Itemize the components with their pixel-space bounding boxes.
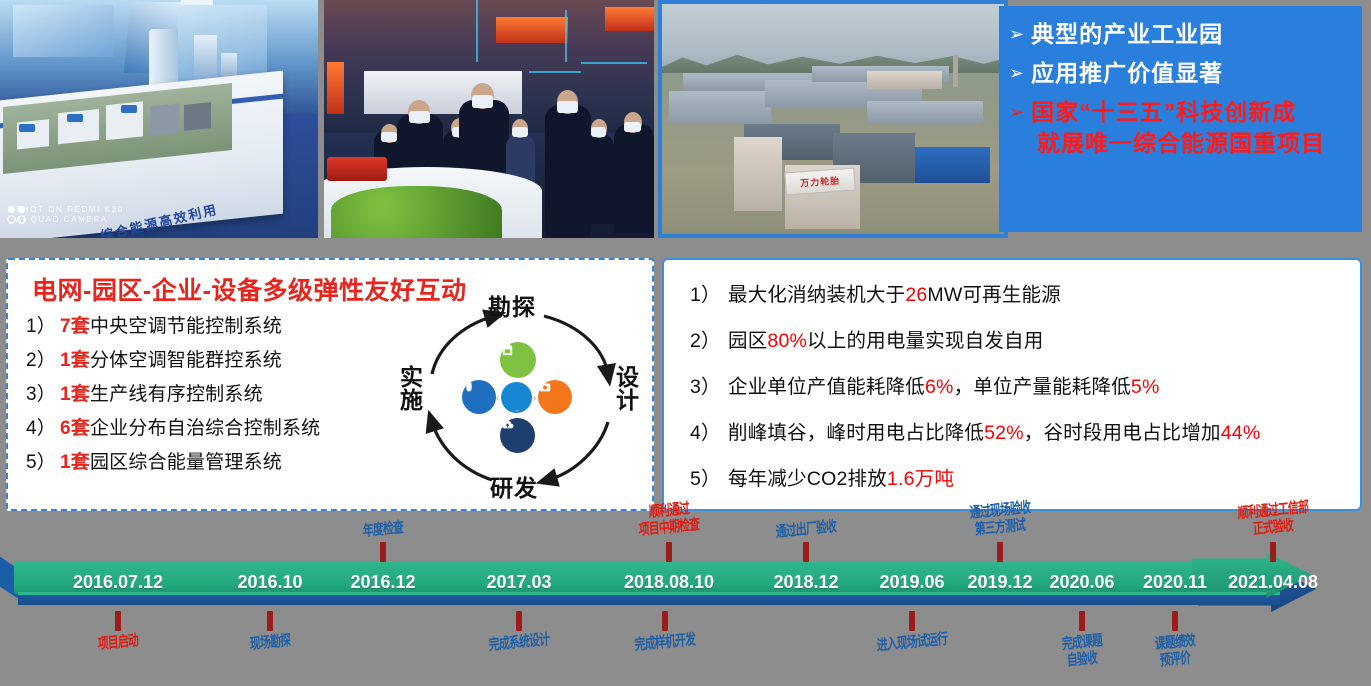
timeline-tick — [909, 611, 915, 631]
exhibition-model-photo: 综合能源高效利用 SHOT ON REDMI K30 AI QUAD CAMER… — [0, 0, 318, 238]
timeline-tick — [662, 611, 668, 631]
timeline-date: 2016.10 — [237, 572, 302, 593]
timeline-tick — [380, 542, 386, 562]
callout-item: ➢ 典型的产业工业园 — [1009, 20, 1354, 48]
timeline-date: 2020.06 — [1049, 572, 1114, 593]
design-node-icon — [538, 380, 572, 414]
face-mask — [557, 101, 577, 113]
deployment-summary-panel: 电网-园区-企业-设备多级弹性友好互动 1）7套中央空调节能控制系统 2）1套分… — [6, 258, 654, 511]
led-screen — [496, 17, 569, 43]
rnd-node-icon — [500, 418, 535, 453]
timeline-tick — [1079, 611, 1085, 631]
callout-item: ➢ 应用推广价值显著 — [1009, 59, 1354, 87]
benefits-summary-panel: 1）最大化消纳装机大于26MW可再生能源 2）园区80%以上的用电量实现自发自用… — [662, 258, 1362, 511]
timeline-caption: 顺利通过工信部正式验收 — [1224, 502, 1322, 537]
chevron-up-icon: ⌃ — [513, 368, 521, 379]
timeline-caption: 课题绩效预评价 — [1147, 634, 1203, 669]
list-item: 2）园区80%以上的用电量实现自发自用 — [690, 324, 1360, 353]
timeline-caption: 完成系统设计 — [477, 634, 561, 651]
highlight-callout-box: ➢ 典型的产业工业园 ➢ 应用推广价值显著 ➢ 国家“十三五”科技创新成 就展唯… — [999, 6, 1362, 232]
cycle-label-top: 勘探 — [488, 296, 536, 319]
timeline-caption: 现场勘探 — [242, 634, 298, 651]
timeline-date: 2018.12 — [773, 572, 838, 593]
timeline-tick — [666, 542, 672, 562]
model-red-prop — [327, 157, 386, 181]
timeline-date: 2019.12 — [967, 572, 1032, 593]
face-mask — [409, 111, 429, 123]
timeline-date: 2019.06 — [879, 572, 944, 593]
list-item: 5）1套园区综合能量管理系统 — [26, 447, 388, 474]
timeline-date: 2018.08.10 — [624, 572, 714, 593]
timeline-caption: 年度检查 — [355, 521, 411, 538]
timeline-caption: 完成课题自验收 — [1054, 634, 1110, 669]
model-landscape — [331, 186, 503, 238]
list-item: 3）企业单位产值能耗降低6%，单位产量能耗降低5% — [690, 370, 1360, 399]
chevron-left-icon: ‹ — [496, 393, 499, 404]
camera-watermark: SHOT ON REDMI K30 AI QUAD CAMERA — [16, 205, 124, 227]
timeline-date: 2017.03 — [486, 572, 551, 593]
timeline-tick — [516, 611, 522, 631]
slide-canvas: 综合能源高效利用 SHOT ON REDMI K30 AI QUAD CAMER… — [0, 0, 1371, 686]
person — [614, 124, 654, 233]
callout-text: 国家“十三五”科技创新成 — [1031, 98, 1296, 126]
person — [585, 133, 615, 223]
led-screen — [327, 62, 344, 114]
lifecycle-diagram: 勘探 设计 研发 实施 ‹ › ⌃ ⌄ — [396, 294, 644, 502]
list-item: 3）1套生产线有序控制系统 — [26, 379, 388, 406]
benefits-list: 1）最大化消纳装机大于26MW可再生能源 2）园区80%以上的用电量实现自发自用… — [664, 260, 1360, 491]
timeline-caption: 通过出厂验收 — [764, 521, 848, 538]
chevron-right-icon: ➢ — [1009, 25, 1024, 43]
timeline-tick — [267, 611, 273, 631]
timeline-caption: 完成样机开发 — [623, 634, 707, 651]
face-mask — [472, 95, 494, 108]
timeline-tick — [1172, 611, 1178, 631]
face-mask — [591, 127, 606, 137]
timeline-caption: 进入现场试运行 — [863, 634, 961, 651]
list-item: 4）削峰填谷，峰时用电占比降低52%，谷时段用电占比增加44% — [690, 416, 1360, 445]
timeline-date: 2021.04.08 — [1228, 572, 1318, 593]
callout-text-continuation: 就展唯一综合能源国重项目 — [1037, 124, 1354, 158]
exhibit-panel — [13, 5, 115, 57]
timeline-caption: 项目启动 — [90, 634, 146, 651]
callout-text: 典型的产业工业园 — [1031, 20, 1223, 48]
list-item: 2）1套分体空调智能群控系统 — [26, 345, 388, 372]
face-mask — [381, 132, 397, 142]
chevron-right-icon: ➢ — [1009, 64, 1024, 82]
timeline-caption: 通过现场验收第三方测试 — [958, 502, 1042, 537]
list-item: 1）最大化消纳装机大于26MW可再生能源 — [690, 278, 1360, 307]
list-item: 1）7套中央空调节能控制系统 — [26, 311, 388, 338]
cycle-label-bottom: 研发 — [490, 477, 538, 500]
chevron-right-icon: ➢ — [1009, 103, 1024, 121]
timeline-tick — [1270, 542, 1276, 562]
implement-node-icon — [462, 380, 496, 414]
timeline-tick — [803, 542, 809, 562]
project-timeline: 2016.07.12项目启动2016.10现场勘探2016.12年度检查2017… — [0, 516, 1371, 686]
deployment-list: 1）7套中央空调节能控制系统 2）1套分体空调智能群控系统 3）1套生产线有序控… — [8, 311, 388, 474]
timeline-date: 2020.11 — [1143, 572, 1207, 593]
industrial-park-aerial-photo: 万力轮胎 — [658, 0, 1008, 238]
led-screen — [605, 7, 655, 31]
cycle-label-left: 实施 — [400, 366, 424, 413]
chevron-down-icon: ⌄ — [513, 404, 521, 415]
timeline-date: 2016.07.12 — [73, 572, 163, 593]
callout-text: 应用推广价值显著 — [1031, 59, 1223, 87]
face-mask — [624, 122, 641, 132]
leaders-visit-photo — [324, 0, 654, 238]
timeline-caption: 顺利通过项目中期检查 — [627, 502, 711, 537]
callout-item: ➢ 国家“十三五”科技创新成 — [1009, 98, 1354, 126]
timeline-date: 2016.12 — [350, 572, 415, 593]
timeline-tick — [115, 611, 121, 631]
timeline-tick — [997, 542, 1003, 562]
chevron-right-icon: › — [533, 393, 536, 404]
list-item: 5）每年减少CO2排放1.6万吨 — [690, 462, 1360, 491]
factory-sign: 万力轮胎 — [784, 167, 856, 195]
list-item: 4）6套企业分布自治综合控制系统 — [26, 413, 388, 440]
cycle-label-right: 设计 — [616, 366, 640, 413]
face-mask — [512, 127, 527, 137]
